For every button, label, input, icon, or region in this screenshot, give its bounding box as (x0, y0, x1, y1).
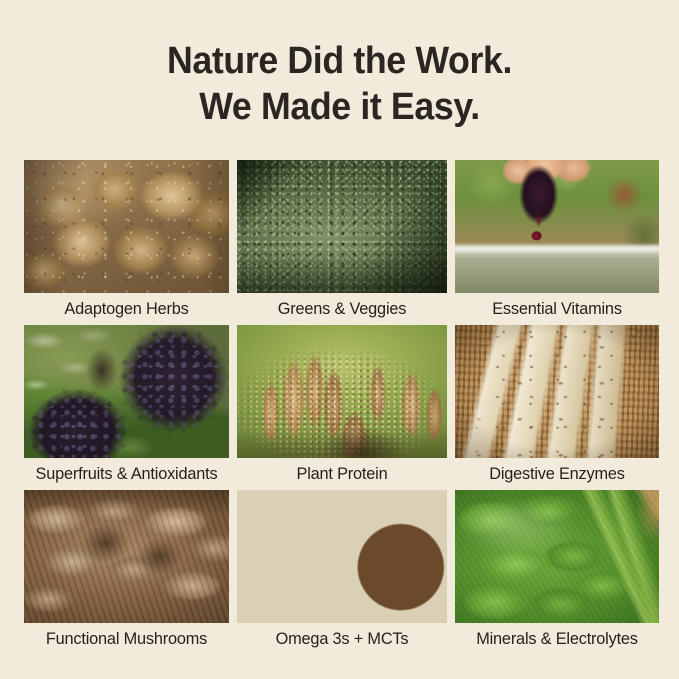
page-title: Nature Did the Work. We Made it Easy. (20, 38, 658, 130)
caption-plant-protein: Plant Protein (241, 458, 443, 490)
caption-functional-mushrooms: Functional Mushrooms (28, 623, 225, 655)
caption-digestive-enzymes: Digestive Enzymes (459, 458, 655, 490)
grid-cell-adaptogen-herbs[interactable]: Adaptogen Herbs (24, 160, 229, 325)
page-title-line-1: Nature Did the Work. (20, 38, 658, 84)
grid-cell-functional-mushrooms[interactable]: Functional Mushrooms (24, 490, 229, 655)
plant-protein-image[interactable] (237, 325, 447, 458)
grid-cell-digestive-enzymes[interactable]: Digestive Enzymes (455, 325, 659, 490)
caption-minerals-electrolytes: Minerals & Electrolytes (459, 623, 655, 655)
infographic-page: Nature Did the Work. We Made it Easy. Ad… (0, 0, 679, 679)
functional-mushrooms-image[interactable] (24, 490, 229, 623)
grid-cell-superfruits-antioxidants[interactable]: Superfruits & Antioxidants (24, 325, 229, 490)
adaptogen-herbs-image[interactable] (24, 160, 229, 293)
omega-3s-mcts-image[interactable] (237, 490, 447, 623)
caption-greens-veggies: Greens & Veggies (241, 293, 443, 325)
caption-adaptogen-herbs: Adaptogen Herbs (28, 293, 225, 325)
caption-superfruits-antioxidants: Superfruits & Antioxidants (28, 458, 225, 490)
greens-veggies-image[interactable] (237, 160, 447, 293)
grid-cell-essential-vitamins[interactable]: Essential Vitamins (455, 160, 659, 325)
essential-vitamins-image[interactable] (455, 160, 659, 293)
ingredient-grid: Adaptogen Herbs Greens & Veggies Essen (24, 160, 656, 655)
grid-cell-omega-3s-mcts[interactable]: Omega 3s + MCTs (237, 490, 447, 655)
digestive-enzymes-image[interactable] (455, 325, 659, 458)
caption-essential-vitamins: Essential Vitamins (459, 293, 655, 325)
superfruits-antioxidants-image[interactable] (24, 325, 229, 458)
minerals-electrolytes-image[interactable] (455, 490, 659, 623)
grid-cell-plant-protein[interactable]: Plant Protein (237, 325, 447, 490)
caption-omega-3s-mcts: Omega 3s + MCTs (241, 623, 443, 655)
grid-cell-greens-veggies[interactable]: Greens & Veggies (237, 160, 447, 325)
grid-cell-minerals-electrolytes[interactable]: Minerals & Electrolytes (455, 490, 659, 655)
page-title-line-2: We Made it Easy. (20, 84, 658, 130)
